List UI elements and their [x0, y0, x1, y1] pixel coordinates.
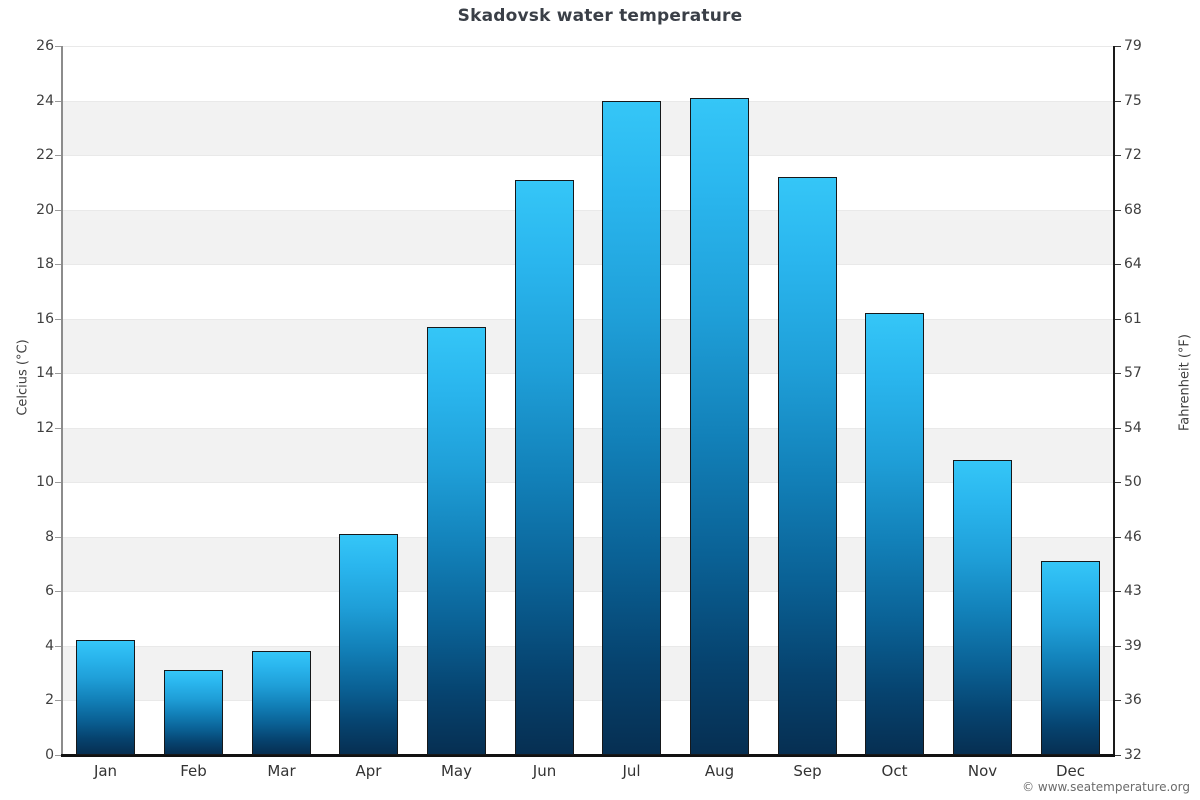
- y-tick-mark-right: [1115, 155, 1121, 156]
- y-tick-label-right: 75: [1124, 94, 1142, 108]
- y-tick-mark-right: [1115, 319, 1121, 320]
- bar[interactable]: [252, 651, 311, 755]
- bar[interactable]: [76, 640, 135, 755]
- gridline: [62, 373, 1114, 374]
- bar[interactable]: [953, 460, 1012, 755]
- y-tick-label-right: 57: [1124, 366, 1142, 380]
- x-tick-label-dec: Dec: [1021, 762, 1120, 780]
- y-tick-label-left: 6: [45, 584, 54, 598]
- y-axis-right-line: [1113, 46, 1115, 756]
- chart-title: Skadovsk water temperature: [0, 6, 1200, 26]
- y-tick-mark-left: [55, 319, 61, 320]
- gridline: [62, 319, 1114, 320]
- y-tick-mark-left: [55, 155, 61, 156]
- y-axis-left-title: Celcius (°C): [16, 218, 31, 538]
- bar[interactable]: [602, 101, 661, 755]
- bar[interactable]: [1041, 561, 1100, 755]
- bar[interactable]: [339, 534, 398, 755]
- x-tick-label-jul: Jul: [582, 762, 681, 780]
- y-tick-label-right: 43: [1124, 584, 1142, 598]
- y-tick-mark-right: [1115, 210, 1121, 211]
- y-tick-label-left: 16: [36, 312, 54, 326]
- y-tick-label-left: 14: [36, 366, 54, 380]
- x-tick-label-jan: Jan: [56, 762, 155, 780]
- y-tick-mark-right: [1115, 700, 1121, 701]
- y-tick-label-left: 24: [36, 94, 54, 108]
- y-tick-label-left: 18: [36, 257, 54, 271]
- x-tick-label-sep: Sep: [758, 762, 857, 780]
- y-tick-label-left: 10: [36, 475, 54, 489]
- y-tick-mark-right: [1115, 264, 1121, 265]
- bar[interactable]: [690, 98, 749, 755]
- y-axis-right-title: Fahrenheit (°F): [1178, 223, 1193, 543]
- x-tick-label-nov: Nov: [933, 762, 1032, 780]
- background-band: [62, 101, 1114, 156]
- water-temperature-chart: Skadovsk water temperature Celcius (°C) …: [0, 0, 1200, 800]
- y-tick-label-left: 20: [36, 203, 54, 217]
- y-tick-label-left: 2: [45, 693, 54, 707]
- bar[interactable]: [427, 327, 486, 755]
- y-tick-label-right: 72: [1124, 148, 1142, 162]
- y-tick-label-right: 50: [1124, 475, 1142, 489]
- y-tick-label-left: 4: [45, 639, 54, 653]
- y-tick-label-right: 36: [1124, 693, 1142, 707]
- y-tick-mark-left: [55, 700, 61, 701]
- gridline: [62, 46, 1114, 47]
- y-tick-mark-right: [1115, 537, 1121, 538]
- y-tick-mark-left: [55, 591, 61, 592]
- y-tick-mark-right: [1115, 428, 1121, 429]
- x-tick-label-oct: Oct: [845, 762, 944, 780]
- y-tick-mark-left: [55, 101, 61, 102]
- y-tick-mark-right: [1115, 101, 1121, 102]
- gridline: [62, 210, 1114, 211]
- gridline: [62, 264, 1114, 265]
- x-tick-label-apr: Apr: [319, 762, 418, 780]
- y-tick-mark-left: [55, 646, 61, 647]
- y-tick-label-right: 32: [1124, 748, 1142, 762]
- x-tick-label-jun: Jun: [495, 762, 594, 780]
- gridline: [62, 155, 1114, 156]
- y-tick-mark-right: [1115, 373, 1121, 374]
- gridline: [62, 428, 1114, 429]
- y-tick-mark-right: [1115, 591, 1121, 592]
- x-tick-label-feb: Feb: [144, 762, 243, 780]
- y-tick-mark-right: [1115, 46, 1121, 47]
- bar[interactable]: [778, 177, 837, 755]
- y-tick-label-right: 39: [1124, 639, 1142, 653]
- y-tick-label-left: 22: [36, 148, 54, 162]
- y-tick-mark-left: [55, 373, 61, 374]
- x-tick-label-aug: Aug: [670, 762, 769, 780]
- y-tick-label-left: 0: [45, 748, 54, 762]
- y-tick-mark-left: [55, 482, 61, 483]
- y-tick-label-right: 79: [1124, 39, 1142, 53]
- y-tick-mark-left: [55, 537, 61, 538]
- x-tick-label-mar: Mar: [232, 762, 331, 780]
- y-tick-mark-right: [1115, 755, 1121, 756]
- y-tick-label-right: 64: [1124, 257, 1142, 271]
- background-band: [62, 319, 1114, 374]
- y-tick-label-left: 26: [36, 39, 54, 53]
- y-tick-mark-left: [55, 210, 61, 211]
- gridline: [62, 101, 1114, 102]
- y-tick-mark-left: [55, 428, 61, 429]
- y-tick-label-right: 46: [1124, 530, 1142, 544]
- y-tick-label-right: 54: [1124, 421, 1142, 435]
- bar[interactable]: [865, 313, 924, 755]
- y-tick-mark-right: [1115, 482, 1121, 483]
- y-tick-label-right: 68: [1124, 203, 1142, 217]
- y-tick-label-left: 8: [45, 530, 54, 544]
- y-tick-mark-left: [55, 46, 61, 47]
- y-tick-mark-left: [55, 755, 61, 756]
- y-axis-left-line: [61, 46, 63, 756]
- site-credit: © www.seatemperature.org: [1022, 780, 1190, 794]
- bar[interactable]: [164, 670, 223, 755]
- bar[interactable]: [515, 180, 574, 755]
- y-tick-mark-left: [55, 264, 61, 265]
- y-tick-label-right: 61: [1124, 312, 1142, 326]
- x-tick-label-may: May: [407, 762, 506, 780]
- y-tick-mark-right: [1115, 646, 1121, 647]
- y-tick-label-left: 12: [36, 421, 54, 435]
- background-band: [62, 210, 1114, 265]
